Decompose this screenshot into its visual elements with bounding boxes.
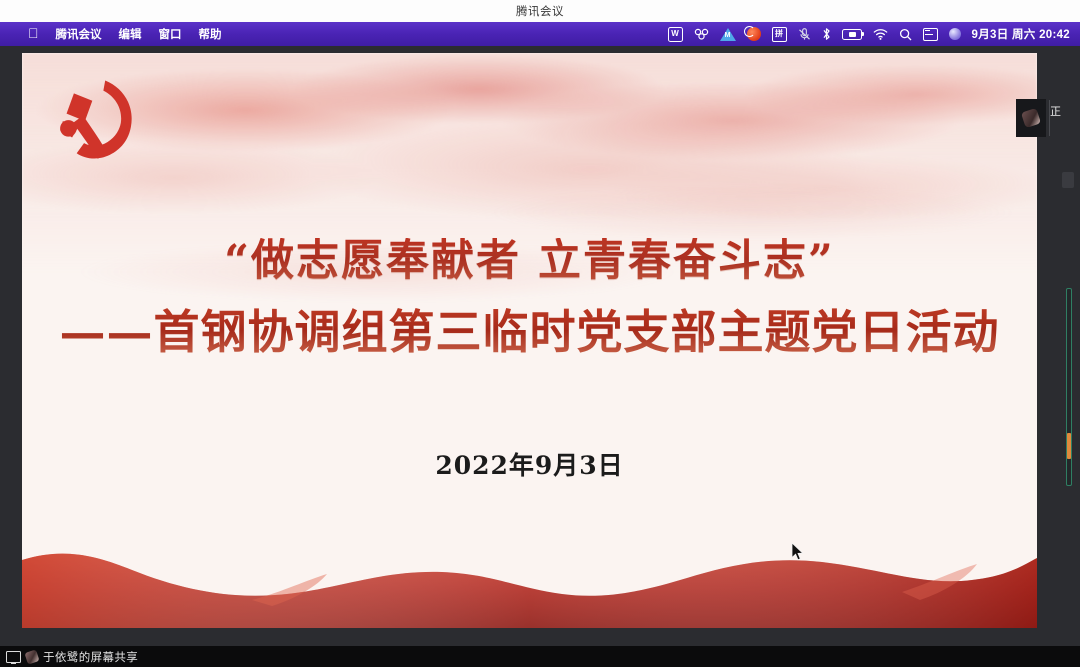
pinyin-input-icon[interactable]: 拼: [772, 27, 787, 42]
screenshare-statusbar: 于依鹭的屏幕共享: [0, 646, 1080, 667]
menubar-clock[interactable]: 9月3日 周六 20:42: [972, 26, 1071, 42]
maps-triangle-icon[interactable]: [720, 28, 736, 41]
menubar-status-group: W 拼: [668, 22, 1080, 46]
screen: 腾讯会议  腾讯会议 编辑 窗口 帮助 W 拼: [0, 0, 1080, 667]
menu-item-window[interactable]: 窗口: [159, 26, 182, 42]
window-titlebar: 腾讯会议: [0, 0, 1080, 23]
macos-menubar:  腾讯会议 编辑 窗口 帮助 W 拼: [0, 22, 1080, 46]
menu-item-app[interactable]: 腾讯会议: [56, 26, 102, 42]
menubar-left-group:  腾讯会议 编辑 窗口 帮助: [0, 22, 222, 46]
panel-scrollbar[interactable]: [1066, 288, 1072, 486]
cpc-hammer-sickle-emblem: [50, 73, 142, 169]
sharer-avatar-icon: [24, 649, 39, 664]
monitor-icon: [6, 651, 21, 663]
participant-panel[interactable]: 正: [1037, 92, 1080, 667]
panel-mini-block: [1062, 172, 1074, 188]
presentation-slide: “做志愿奉献者 立青春奋斗志” ——首钢协调组第三临时党支部主题党日活动 202…: [22, 53, 1037, 628]
control-center-icon[interactable]: [923, 28, 938, 41]
shared-screen-stage: “做志愿奉献者 立青春奋斗志” ——首钢协调组第三临时党支部主题党日活动 202…: [0, 46, 1080, 646]
panel-status-text: 正: [1050, 106, 1078, 119]
spotlight-search-icon[interactable]: [899, 28, 912, 41]
menu-item-edit[interactable]: 编辑: [119, 26, 142, 42]
screenshare-label: 于依鹭的屏幕共享: [43, 649, 138, 665]
red-circle-app-icon[interactable]: [747, 27, 761, 41]
cloud-sync-icon[interactable]: [694, 28, 709, 40]
bluetooth-icon[interactable]: [822, 27, 831, 41]
menu-item-help[interactable]: 帮助: [199, 26, 222, 42]
participant-avatar: [1021, 108, 1041, 128]
battery-icon[interactable]: [842, 29, 862, 40]
window-title: 腾讯会议: [516, 3, 564, 19]
wps-icon[interactable]: W: [668, 27, 683, 42]
microphone-muted-icon[interactable]: [798, 28, 811, 41]
participant-video-thumbnail[interactable]: [1016, 99, 1046, 137]
red-silk-ribbon-decoration: [22, 508, 1037, 628]
watercolor-background-secondary: [22, 173, 1037, 503]
panel-scrollbar-thumb[interactable]: [1067, 433, 1071, 459]
siri-icon[interactable]: [949, 28, 961, 40]
apple-logo-icon[interactable]: : [28, 26, 39, 40]
wifi-icon[interactable]: [873, 28, 888, 40]
